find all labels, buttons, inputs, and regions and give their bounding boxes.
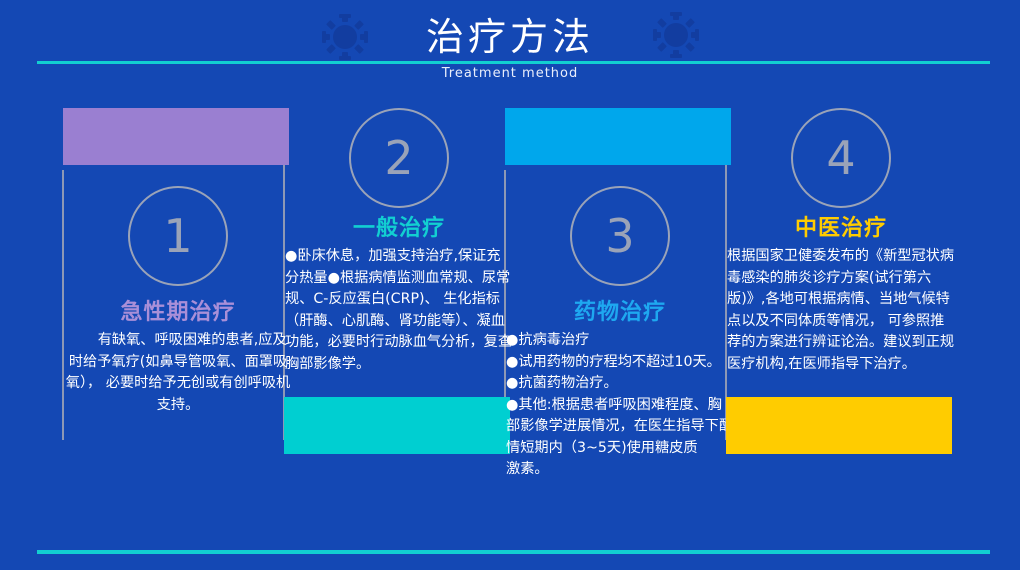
step-number-3: 3	[572, 188, 668, 284]
step-number-4: 4	[793, 110, 889, 206]
column-title-4: 中医治疗	[726, 214, 956, 244]
step-number-badge-3: 3	[505, 186, 735, 290]
circle-outline-2: 2	[349, 108, 449, 208]
column-title-3: 药物治疗	[505, 298, 735, 328]
circle-outline-1: 1	[128, 186, 228, 286]
footer-divider-line	[37, 550, 990, 554]
page-subtitle: Treatment method	[0, 65, 1020, 83]
page-title: 治疗方法	[0, 14, 1020, 60]
column-body-4: 根据国家卫健委发布的《新型冠状病毒感染的肺炎诊疗方案(试行第六版)》,各地可根据…	[727, 246, 955, 375]
slide-root: 治疗方法 Treatment method 1 急性期治疗 有缺氧、呼吸困难的患…	[0, 0, 1020, 570]
column-body-3: ●抗病毒治疗 ●试用药物的疗程均不超过10天。 ●抗菌药物治疗。 ●其他:根据患…	[506, 330, 734, 481]
step-number-1: 1	[130, 188, 226, 284]
slide-header: 治疗方法 Treatment method	[0, 0, 1020, 95]
accent-bar-3	[505, 108, 731, 165]
circle-outline-4: 4	[791, 108, 891, 208]
step-number-badge-4: 4	[726, 108, 956, 212]
column-body-1: 有缺氧、呼吸困难的患者,应及时给予氧疗(如鼻导管吸氧、面罩吸氧）， 必要时给予无…	[64, 330, 292, 416]
column-title-1: 急性期治疗	[63, 298, 293, 328]
column-title-2: 一般治疗	[284, 214, 514, 244]
accent-bar-2	[284, 397, 510, 454]
accent-bar-1	[63, 108, 289, 165]
step-number-badge-2: 2	[284, 108, 514, 212]
step-number-badge-1: 1	[63, 186, 293, 290]
step-number-2: 2	[351, 110, 447, 206]
circle-outline-3: 3	[570, 186, 670, 286]
column-body-2: ●卧床休息，加强支持治疗,保证充分热量●根据病情监测血常规、尿常规、C-反应蛋白…	[285, 246, 513, 375]
header-divider-line	[37, 61, 990, 64]
accent-bar-4	[726, 397, 952, 454]
